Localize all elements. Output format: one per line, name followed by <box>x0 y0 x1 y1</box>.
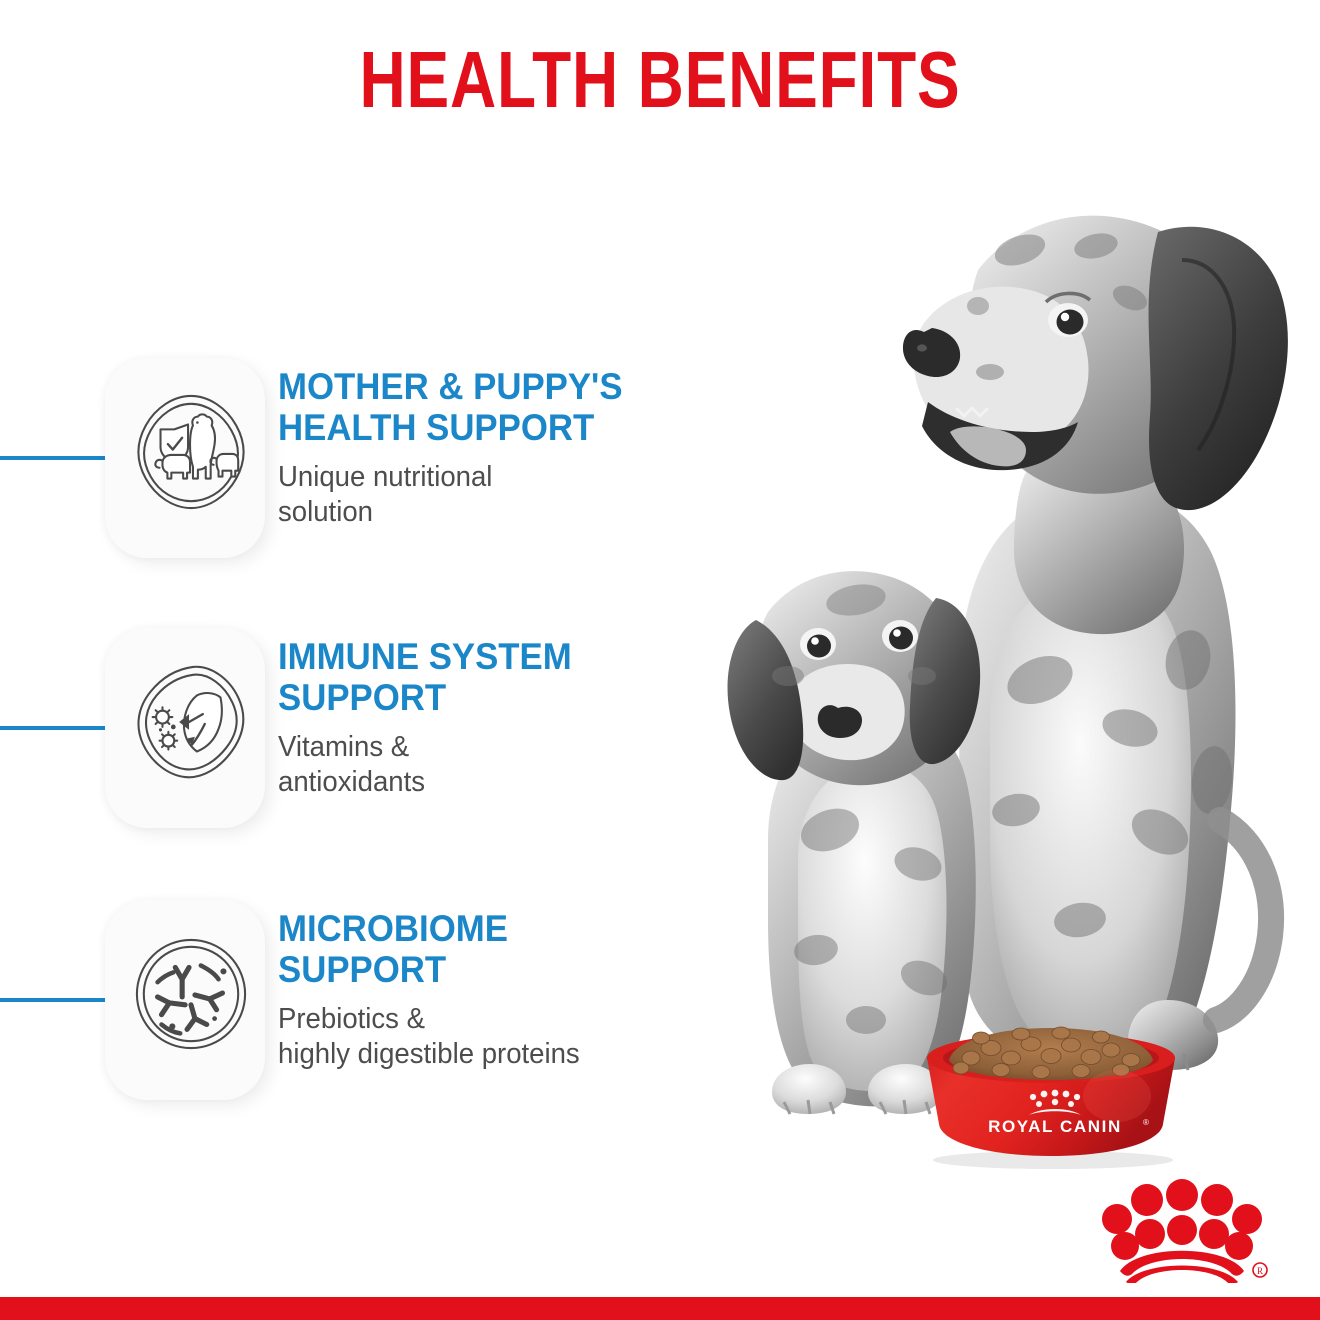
benefit-subtext-3: Prebiotics & highly digestible proteins <box>278 1002 658 1072</box>
benefit-heading-2: IMMUNE SYSTEM SUPPORT <box>278 636 654 719</box>
connector-line-2 <box>0 726 107 730</box>
benefit-subtext-1: Unique nutritional solution <box>278 460 658 530</box>
benefit-icon-card-3 <box>105 900 265 1100</box>
benefit-heading-1: MOTHER & PUPPY'S HEALTH SUPPORT <box>278 366 654 449</box>
infographic-canvas: HEALTH BENEFITS <box>0 0 1320 1320</box>
page-title: HEALTH BENEFITS <box>132 38 1188 122</box>
bowl-registered-mark: ® <box>1143 1118 1149 1127</box>
royal-canin-dog-bowl: ROYAL CANIN ® <box>905 1020 1195 1170</box>
benefit-row-mother-puppy-health-support: MOTHER & PUPPY'S HEALTH SUPPORT Unique n… <box>0 358 700 588</box>
benefit-row-immune-system-support: IMMUNE SYSTEM SUPPORT Vitamins & antioxi… <box>0 628 700 858</box>
benefit-icon-card-1 <box>105 358 265 558</box>
dog-and-puppy-photo <box>660 120 1320 1130</box>
benefit-subtext-2: Vitamins & antioxidants <box>278 730 658 800</box>
connector-line-3 <box>0 998 107 1002</box>
microbiome-bacteria-icon <box>132 932 250 1056</box>
benefit-heading-3: MICROBIOME SUPPORT <box>278 908 654 991</box>
benefit-text-block-3: MICROBIOME SUPPORT Prebiotics & highly d… <box>278 908 678 1071</box>
benefit-icon-card-2 <box>105 628 265 828</box>
benefit-text-block-2: IMMUNE SYSTEM SUPPORT Vitamins & antioxi… <box>278 636 678 799</box>
bowl-brand-label: ROYAL CANIN <box>988 1117 1122 1136</box>
benefit-row-microbiome-support: MICROBIOME SUPPORT Prebiotics & highly d… <box>0 900 700 1130</box>
connector-line-1 <box>0 456 107 460</box>
benefit-text-block-1: MOTHER & PUPPY'S HEALTH SUPPORT Unique n… <box>278 366 678 529</box>
royal-canin-crown-logo: R <box>1090 1178 1290 1283</box>
shield-deflecting-germs-icon <box>132 660 250 784</box>
bottom-red-bar <box>0 1297 1320 1320</box>
logo-registered-mark: R <box>1257 1266 1263 1276</box>
mother-and-puppies-shield-icon <box>132 390 250 514</box>
